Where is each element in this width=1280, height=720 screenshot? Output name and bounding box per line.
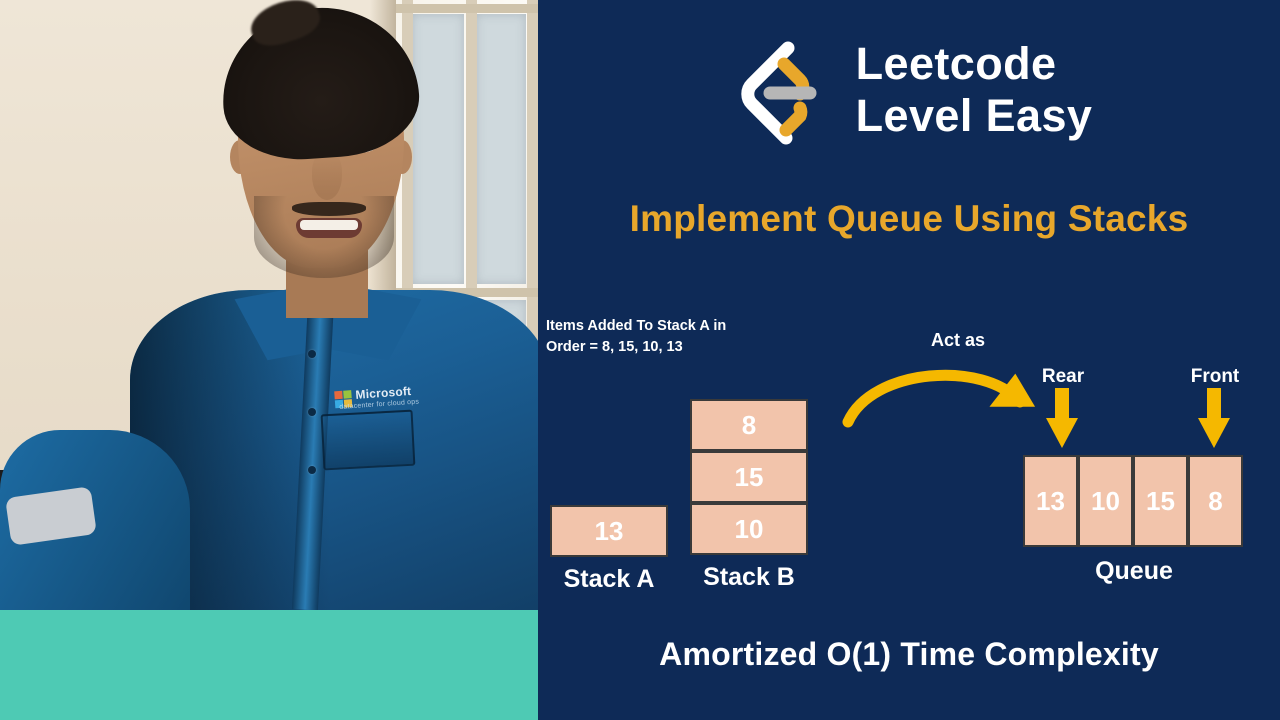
nose: [312, 152, 342, 200]
stack-b: 8 15 10 Stack B: [690, 399, 808, 592]
brand-line-1: Leetcode: [856, 38, 1093, 90]
content-panel: Leetcode Level Easy Implement Queue Usin…: [538, 0, 1280, 720]
queue-cell-3: 8: [1188, 455, 1243, 547]
leetcode-logo-icon: [726, 34, 822, 146]
stack-a-cell-0: 13: [550, 505, 668, 557]
page-title: Implement Queue Using Stacks: [538, 198, 1280, 240]
queue-row: 13 10 15 8: [1023, 455, 1245, 547]
stack-b-label: Stack B: [690, 563, 808, 592]
front-arrow-icon: [1196, 388, 1232, 455]
footer-title: Amortized O(1) Time Complexity: [538, 636, 1280, 673]
stack-a: 13 Stack A: [550, 505, 668, 594]
moustache: [292, 202, 366, 216]
sponsor-bar: Microsoft: [0, 610, 538, 720]
diagram-note: Items Added To Stack A in Order = 8, 15,…: [546, 316, 736, 357]
connector-label: Act as: [893, 330, 1023, 351]
stack-b-cell-0: 8: [690, 399, 808, 451]
stack-a-label: Stack A: [550, 565, 668, 594]
brand-header: Leetcode Level Easy: [538, 10, 1280, 170]
brand-text: Leetcode Level Easy: [856, 38, 1093, 142]
queue-cell-0: 13: [1023, 455, 1078, 547]
queue-cell-1: 10: [1078, 455, 1133, 547]
hair: [217, 1, 423, 164]
presenter-figure: Microsoft datacenter for cloud ops: [0, 0, 538, 610]
queue-cell-2: 15: [1133, 455, 1188, 547]
mouth: [296, 218, 362, 238]
presenter-photo: Microsoft datacenter for cloud ops: [0, 0, 538, 720]
queue-label: Queue: [1023, 557, 1245, 586]
curved-arrow-icon: [838, 350, 1048, 445]
stack-b-cell-2: 10: [690, 503, 808, 555]
stack-b-cell-1: 15: [690, 451, 808, 503]
queue-front-label: Front: [1176, 366, 1254, 388]
rear-arrow-icon: [1044, 388, 1080, 455]
brand-line-2: Level Easy: [856, 90, 1093, 142]
queue: 13 10 15 8 Queue: [1023, 455, 1245, 586]
shirt-pocket: [321, 410, 416, 471]
queue-using-stacks-diagram: Items Added To Stack A in Order = 8, 15,…: [538, 300, 1280, 610]
thumbnail-root: Microsoft datacenter for cloud ops: [0, 0, 1280, 720]
queue-rear-label: Rear: [1026, 366, 1100, 388]
